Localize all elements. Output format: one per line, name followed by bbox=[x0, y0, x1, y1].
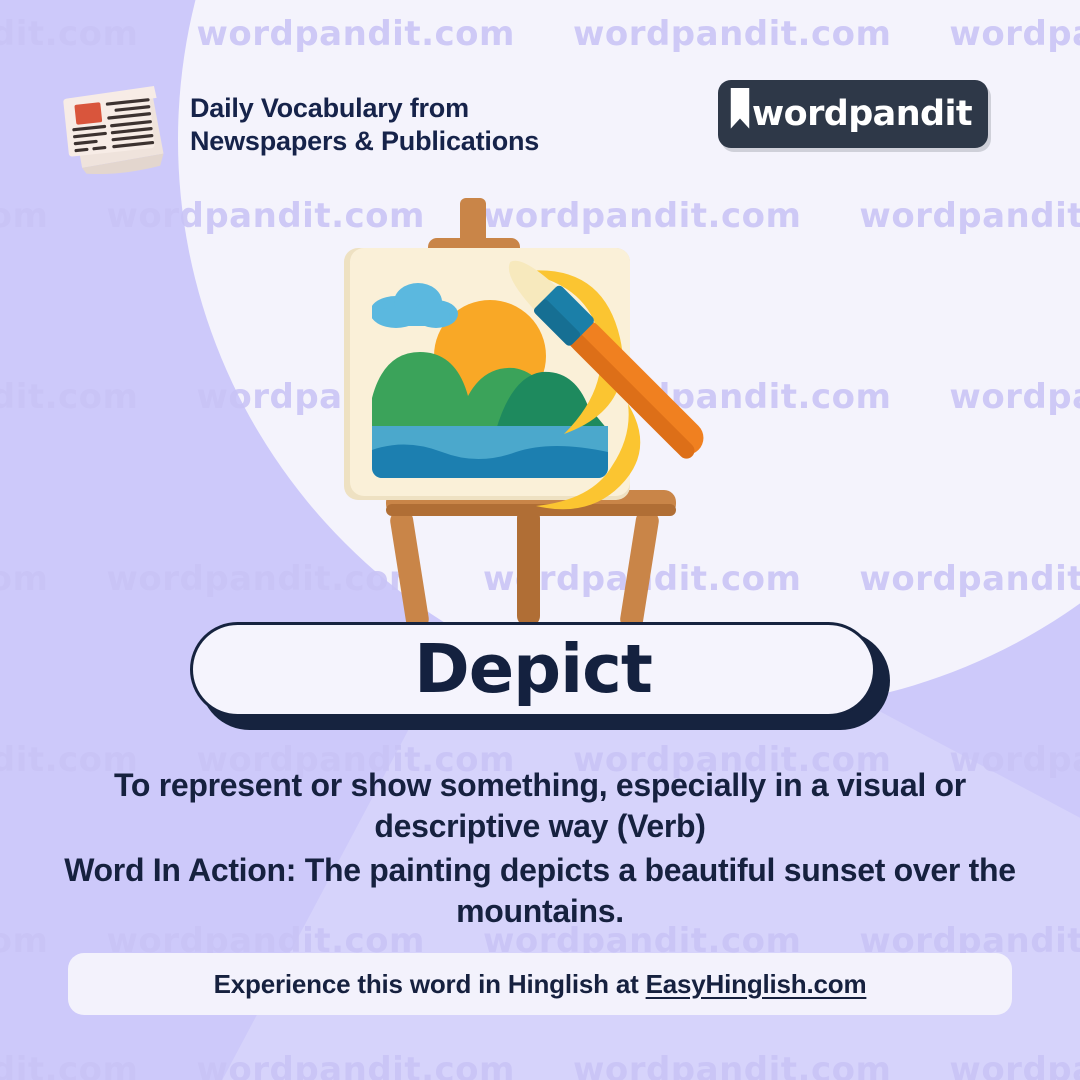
water bbox=[372, 426, 608, 482]
header-title: Daily Vocabulary from Newspapers & Publi… bbox=[190, 92, 710, 158]
logo-text: wordpandit bbox=[752, 97, 972, 132]
wordpandit-logo[interactable]: wordpandit bbox=[718, 80, 988, 148]
footer-bar[interactable]: Experience this word in Hinglish at Easy… bbox=[68, 953, 1012, 1015]
easel-painting-illustration bbox=[320, 190, 770, 640]
watermark-text: wordpandit.com bbox=[0, 377, 138, 417]
easel-legs bbox=[386, 490, 676, 631]
newspaper-icon bbox=[58, 78, 176, 174]
watermark-text: wordpandit.com bbox=[0, 196, 48, 236]
word-pill: Depict bbox=[190, 622, 890, 730]
watermark-text: wordpandit.com bbox=[0, 1050, 138, 1080]
watermark-text: wordpandit.com bbox=[0, 14, 138, 54]
easyhinglish-link[interactable]: EasyHinglish.com bbox=[646, 969, 867, 999]
word-in-action-text: Word In Action: The painting depicts a b… bbox=[40, 850, 1040, 932]
header-title-line-1: Daily Vocabulary from bbox=[190, 92, 710, 125]
definition-text: To represent or show something, especial… bbox=[40, 765, 1040, 847]
watermark-text: wordpandit.com bbox=[0, 559, 48, 599]
page-title: Depict bbox=[414, 636, 652, 703]
header-title-line-2: Newspapers & Publications bbox=[190, 125, 710, 158]
bookmark-icon bbox=[728, 87, 752, 142]
vocabulary-card: wordpandit.comwordpandit.comwordpandit.c… bbox=[0, 0, 1080, 1080]
footer-prefix: Experience this word in Hinglish at bbox=[214, 969, 646, 999]
header: Daily Vocabulary from Newspapers & Publi… bbox=[0, 66, 1080, 176]
footer-text: Experience this word in Hinglish at Easy… bbox=[214, 969, 867, 1000]
